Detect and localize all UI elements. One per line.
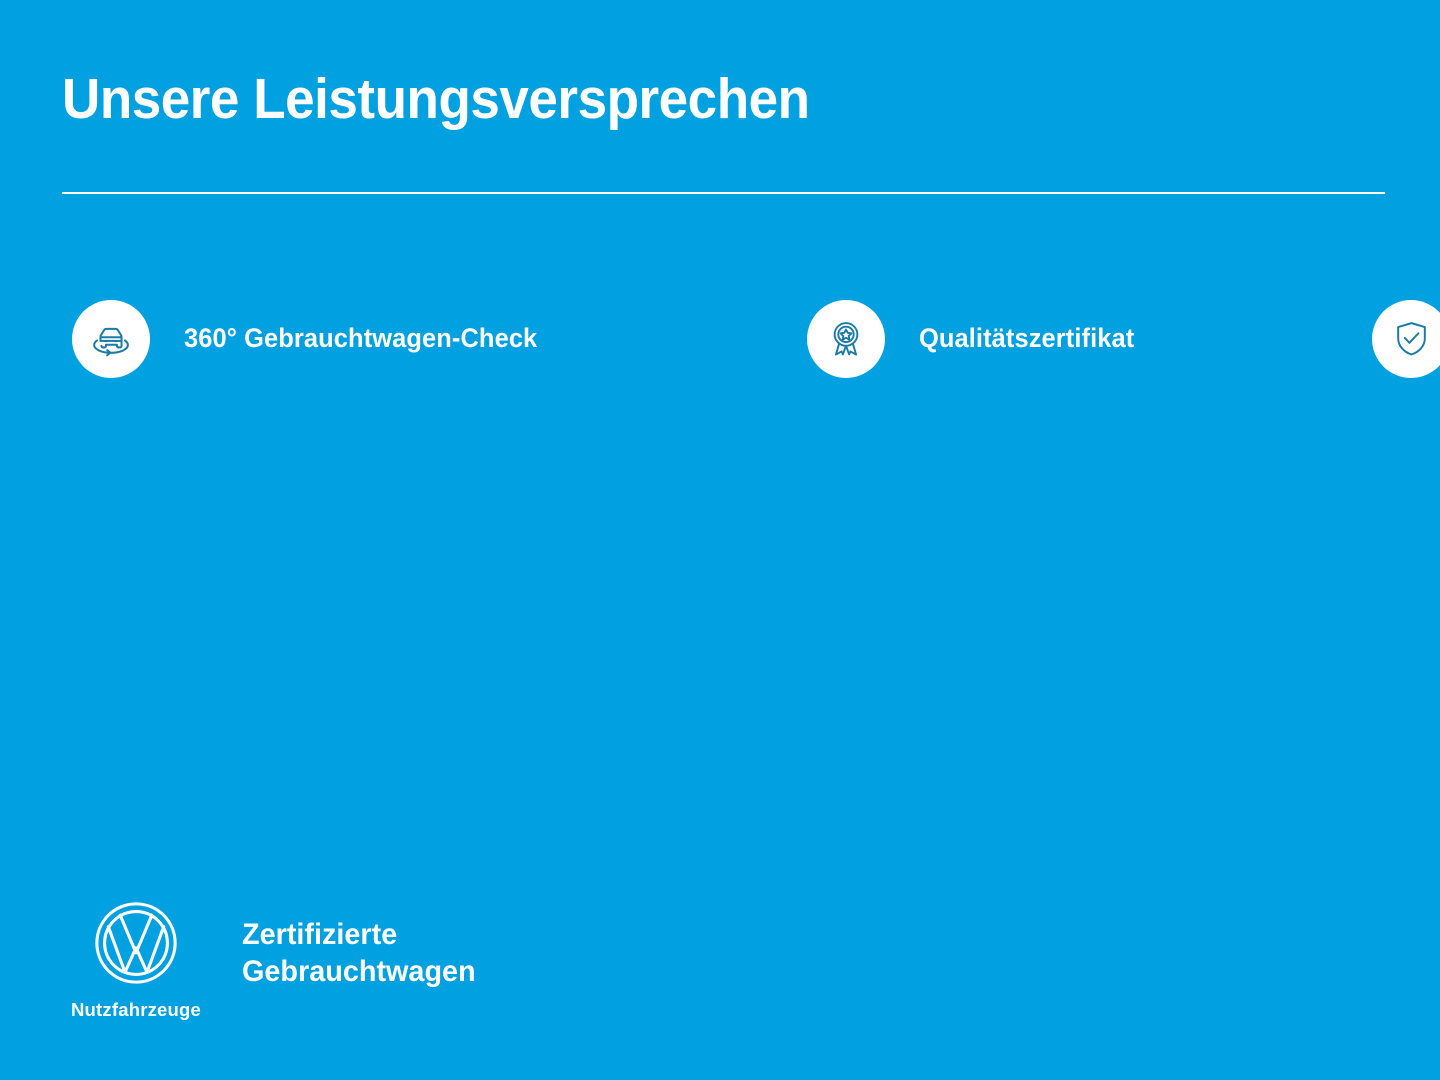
icon-badge [1372,300,1440,378]
footer-headline: Zertifizierte Gebrauchtwagen [242,917,476,990]
icon-badge [72,300,150,378]
footer: Nutzfahrzeuge Zertifizierte Gebrauchtwag… [62,900,485,1021]
footer-headline-line-2: Gebrauchtwagen [242,954,476,991]
car-360-check-icon [88,316,134,362]
feature-item-360-check[interactable]: 360° Gebrauchtwagen-Check [72,284,807,393]
footer-headline-line-1: Zertifizierte [242,917,476,954]
feature-item-warranty[interactable]: Gebrauchtwagengarantie [1372,284,1440,393]
brand-lockup: Nutzfahrzeuge [62,900,210,1021]
icon-badge [807,300,885,378]
feature-item-quality-certificate[interactable]: Qualitätszertifikat [807,284,1372,393]
shield-check-icon [1389,316,1434,361]
page-title: Unsere Leistungsversprechen [62,68,810,131]
feature-list: 360° Gebrauchtwagen-Check Qualitätszerti… [72,284,1372,393]
brand-wordmark: Nutzfahrzeuge [71,999,201,1021]
volkswagen-logo-icon [93,900,179,991]
award-rosette-icon [824,317,868,361]
header-divider [62,192,1385,194]
feature-label: 360° Gebrauchtwagen-Check [184,323,537,354]
feature-label: Qualitätszertifikat [919,323,1134,354]
